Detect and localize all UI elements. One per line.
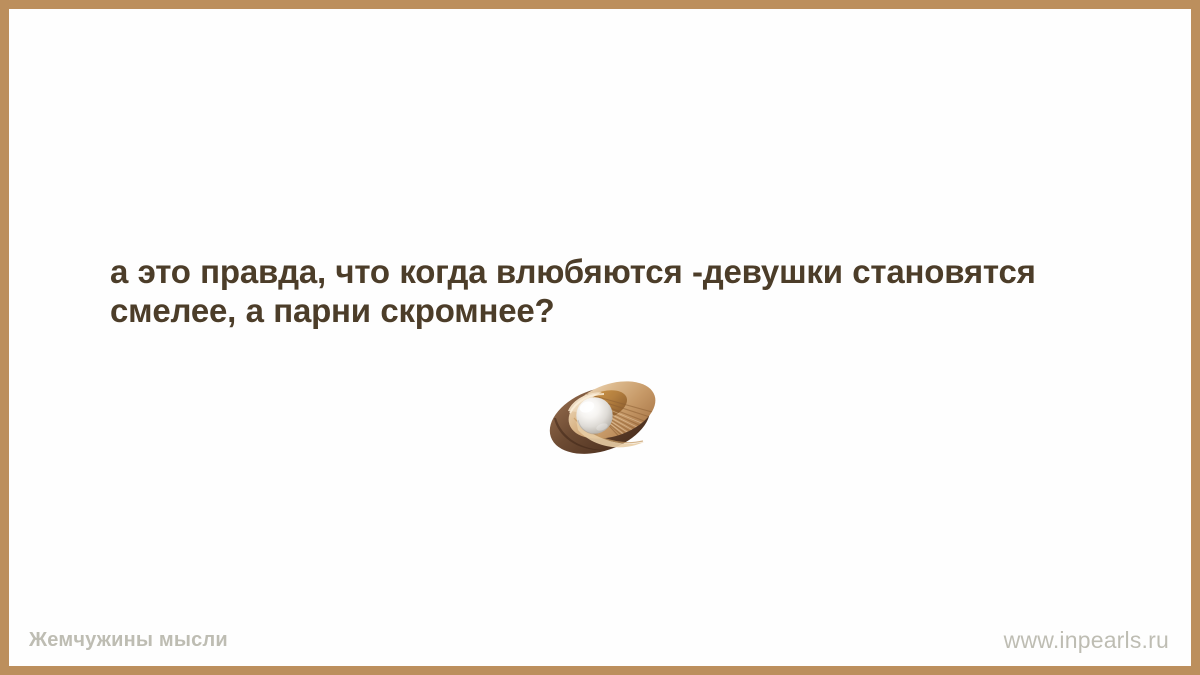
site-brand-label: Жемчужины мысли xyxy=(29,629,228,652)
oyster-shell-with-pearl-icon xyxy=(540,380,672,454)
quote-card: а это правда, что когда влюбяются -девуш… xyxy=(0,0,1200,675)
site-url-label[interactable]: www.inpearls.ru xyxy=(1004,627,1169,654)
quote-text: а это правда, что когда влюбяются -девуш… xyxy=(110,252,1110,330)
